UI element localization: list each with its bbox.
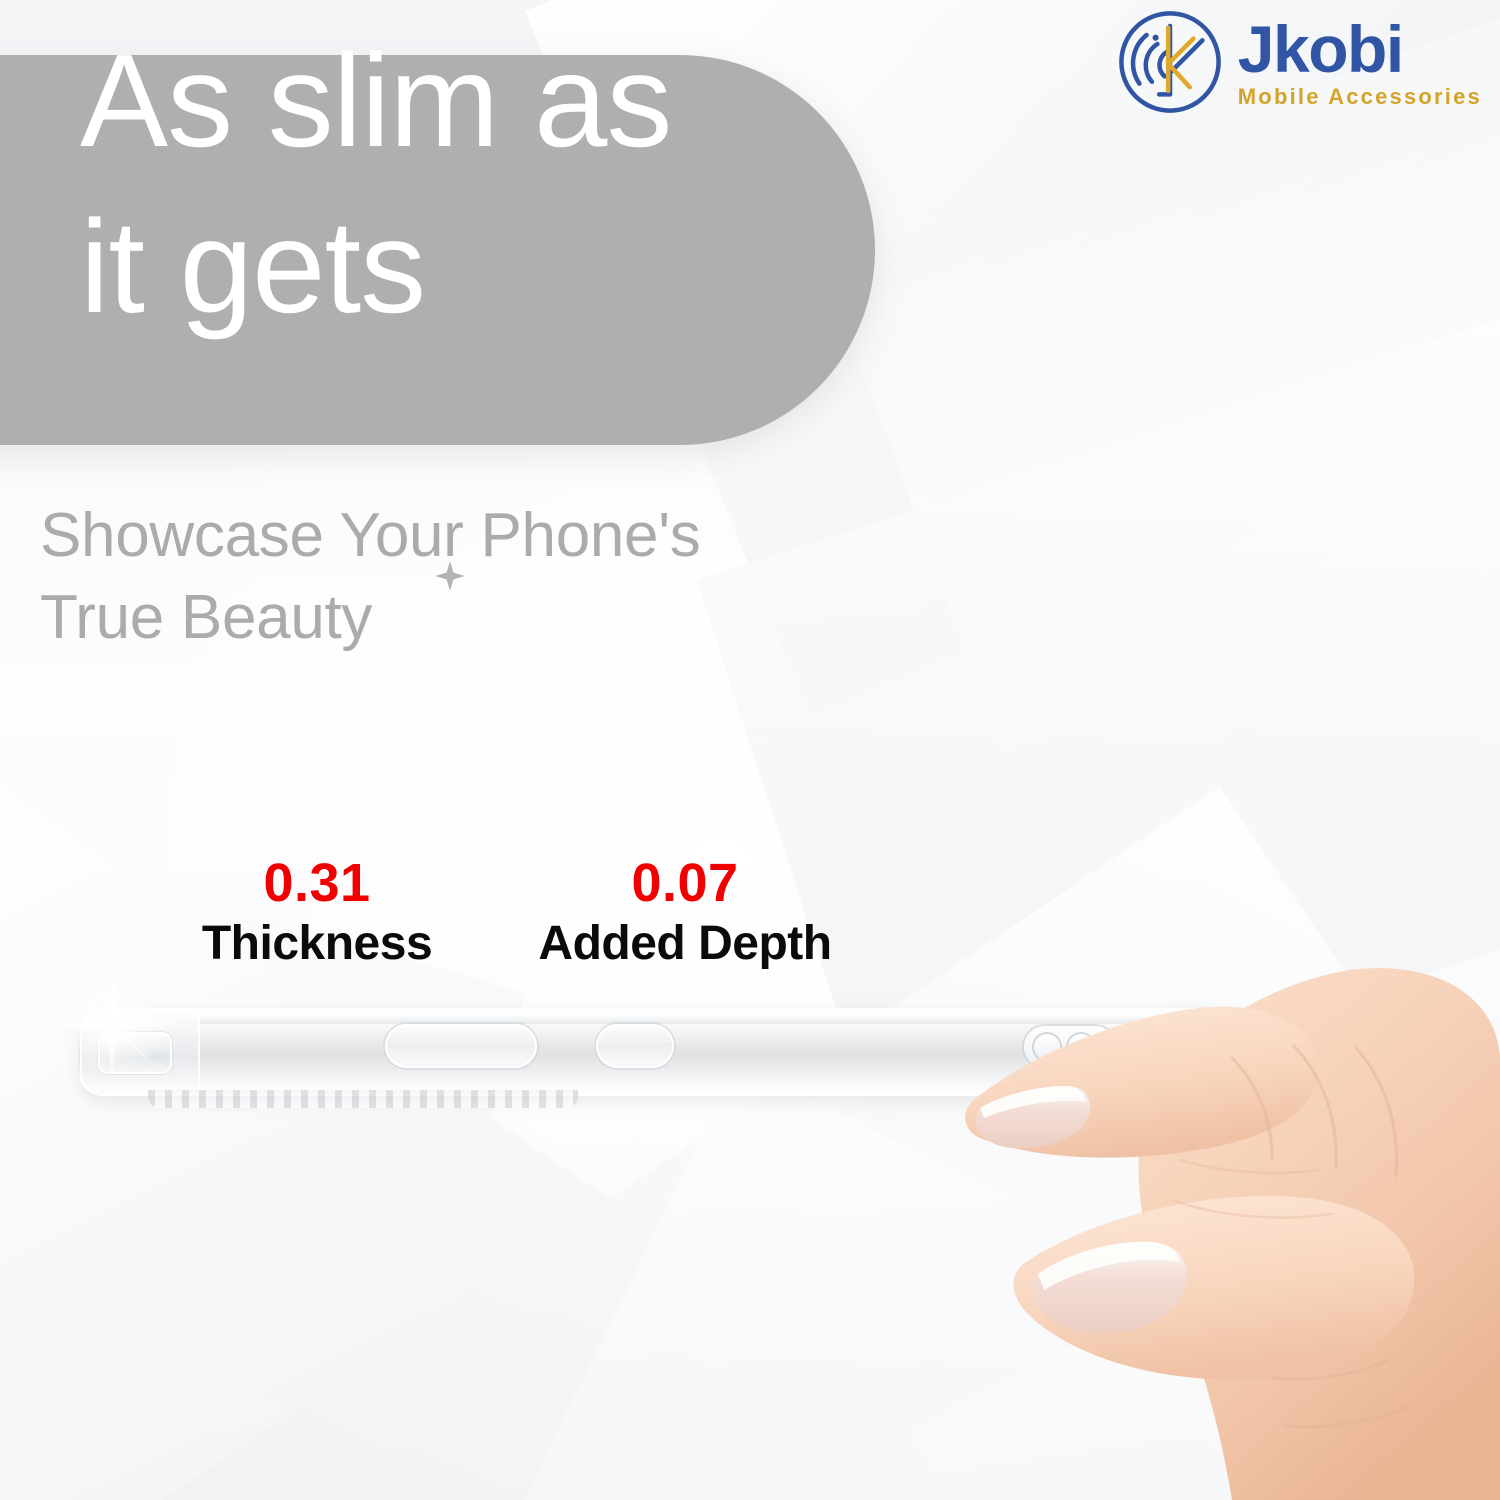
volume-button-cover-icon xyxy=(385,1024,537,1068)
brand-name: Jkobi xyxy=(1238,16,1482,82)
headline-text: As slim as it gets xyxy=(80,18,860,351)
brand-wordmark: Jkobi Mobile Accessories xyxy=(1238,16,1482,108)
marketing-banner: As slim as it gets Showcase Your Phone's… xyxy=(0,0,1500,1500)
power-button-cover-icon xyxy=(596,1024,674,1068)
hand-holding-icon xyxy=(880,870,1500,1500)
sparkle-icon xyxy=(433,559,467,593)
side-port-icon xyxy=(98,1032,172,1074)
brand-logo: Jkobi Mobile Accessories xyxy=(1116,8,1482,116)
speaker-grille-icon xyxy=(148,1090,578,1108)
measurement-value: 0.31 xyxy=(172,855,462,912)
subtitle-block: Showcase Your Phone's True Beauty xyxy=(40,495,920,659)
product-photo xyxy=(0,940,1500,1500)
brand-tagline: Mobile Accessories xyxy=(1238,86,1482,108)
jkobi-circular-logo-icon xyxy=(1116,8,1224,116)
subtitle-text: Showcase Your Phone's True Beauty xyxy=(40,501,700,652)
measurement-value: 0.07 xyxy=(500,855,870,912)
